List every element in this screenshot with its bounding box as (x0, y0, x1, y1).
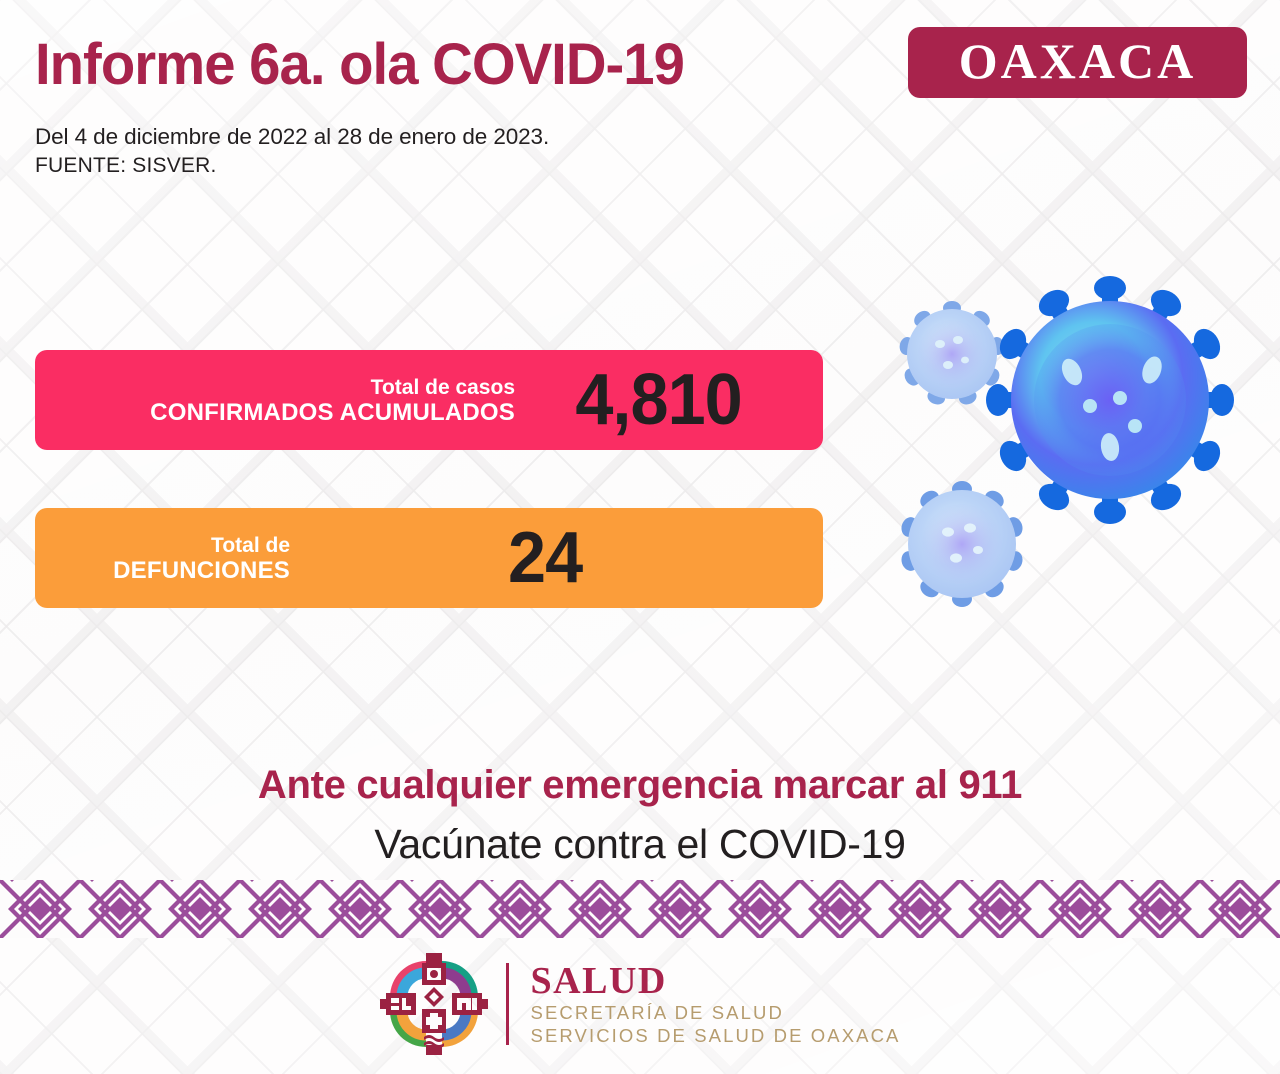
logo-divider (506, 963, 509, 1045)
stat-label-line2: CONFIRMADOS ACUMULADOS (35, 400, 515, 425)
report-source: FUENTE: SISVER. (35, 151, 549, 180)
stat-value-confirmed-cases: 4,810 (523, 365, 816, 435)
stat-label-deaths: Total de DEFUNCIONES (35, 533, 290, 583)
logo-subtitle-line2: SERVICIOS DE SALUD DE OAXACA (531, 1024, 901, 1047)
stat-label-line2: DEFUNCIONES (35, 558, 290, 583)
stat-label-line1: Total de (35, 533, 290, 558)
logo-text-block: SALUD SECRETARÍA DE SALUD SERVICIOS DE S… (531, 961, 901, 1047)
salud-mosaic-icon (380, 953, 488, 1055)
stat-card-deaths: Total de DEFUNCIONES 24 (35, 508, 823, 608)
header: Informe 6a. ola COVID-19 OAXACA (35, 22, 1250, 122)
state-badge: OAXACA (908, 27, 1247, 98)
infographic-page: Informe 6a. ola COVID-19 OAXACA Del 4 de… (0, 0, 1280, 1074)
state-badge-label: OAXACA (959, 36, 1196, 89)
stat-label-confirmed-cases: Total de casos CONFIRMADOS ACUMULADOS (35, 375, 515, 425)
report-period-block: Del 4 de diciembre de 2022 al 28 de ener… (35, 122, 549, 180)
greca-border (0, 880, 1280, 938)
virus-particle-small-bottom (899, 481, 1025, 607)
report-period: Del 4 de diciembre de 2022 al 28 de ener… (35, 122, 549, 151)
emergency-message: Ante cualquier emergencia marcar al 911 (0, 760, 1280, 810)
vaccination-message: Vacúnate contra el COVID-19 (0, 818, 1280, 870)
logo-salud-title: SALUD (531, 961, 901, 1001)
page-title: Informe 6a. ola COVID-19 (35, 30, 684, 100)
virus-particle-large (986, 276, 1234, 524)
salud-logo: SALUD SECRETARÍA DE SALUD SERVICIOS DE S… (380, 953, 901, 1055)
coronavirus-illustration (862, 232, 1264, 652)
stat-value-deaths: 24 (303, 523, 809, 593)
stat-card-confirmed-cases: Total de casos CONFIRMADOS ACUMULADOS 4,… (35, 350, 823, 450)
footer: SALUD SECRETARÍA DE SALUD SERVICIOS DE S… (0, 948, 1280, 1060)
stat-label-line1: Total de casos (35, 375, 515, 400)
logo-subtitle-line1: SECRETARÍA DE SALUD (531, 1001, 901, 1024)
